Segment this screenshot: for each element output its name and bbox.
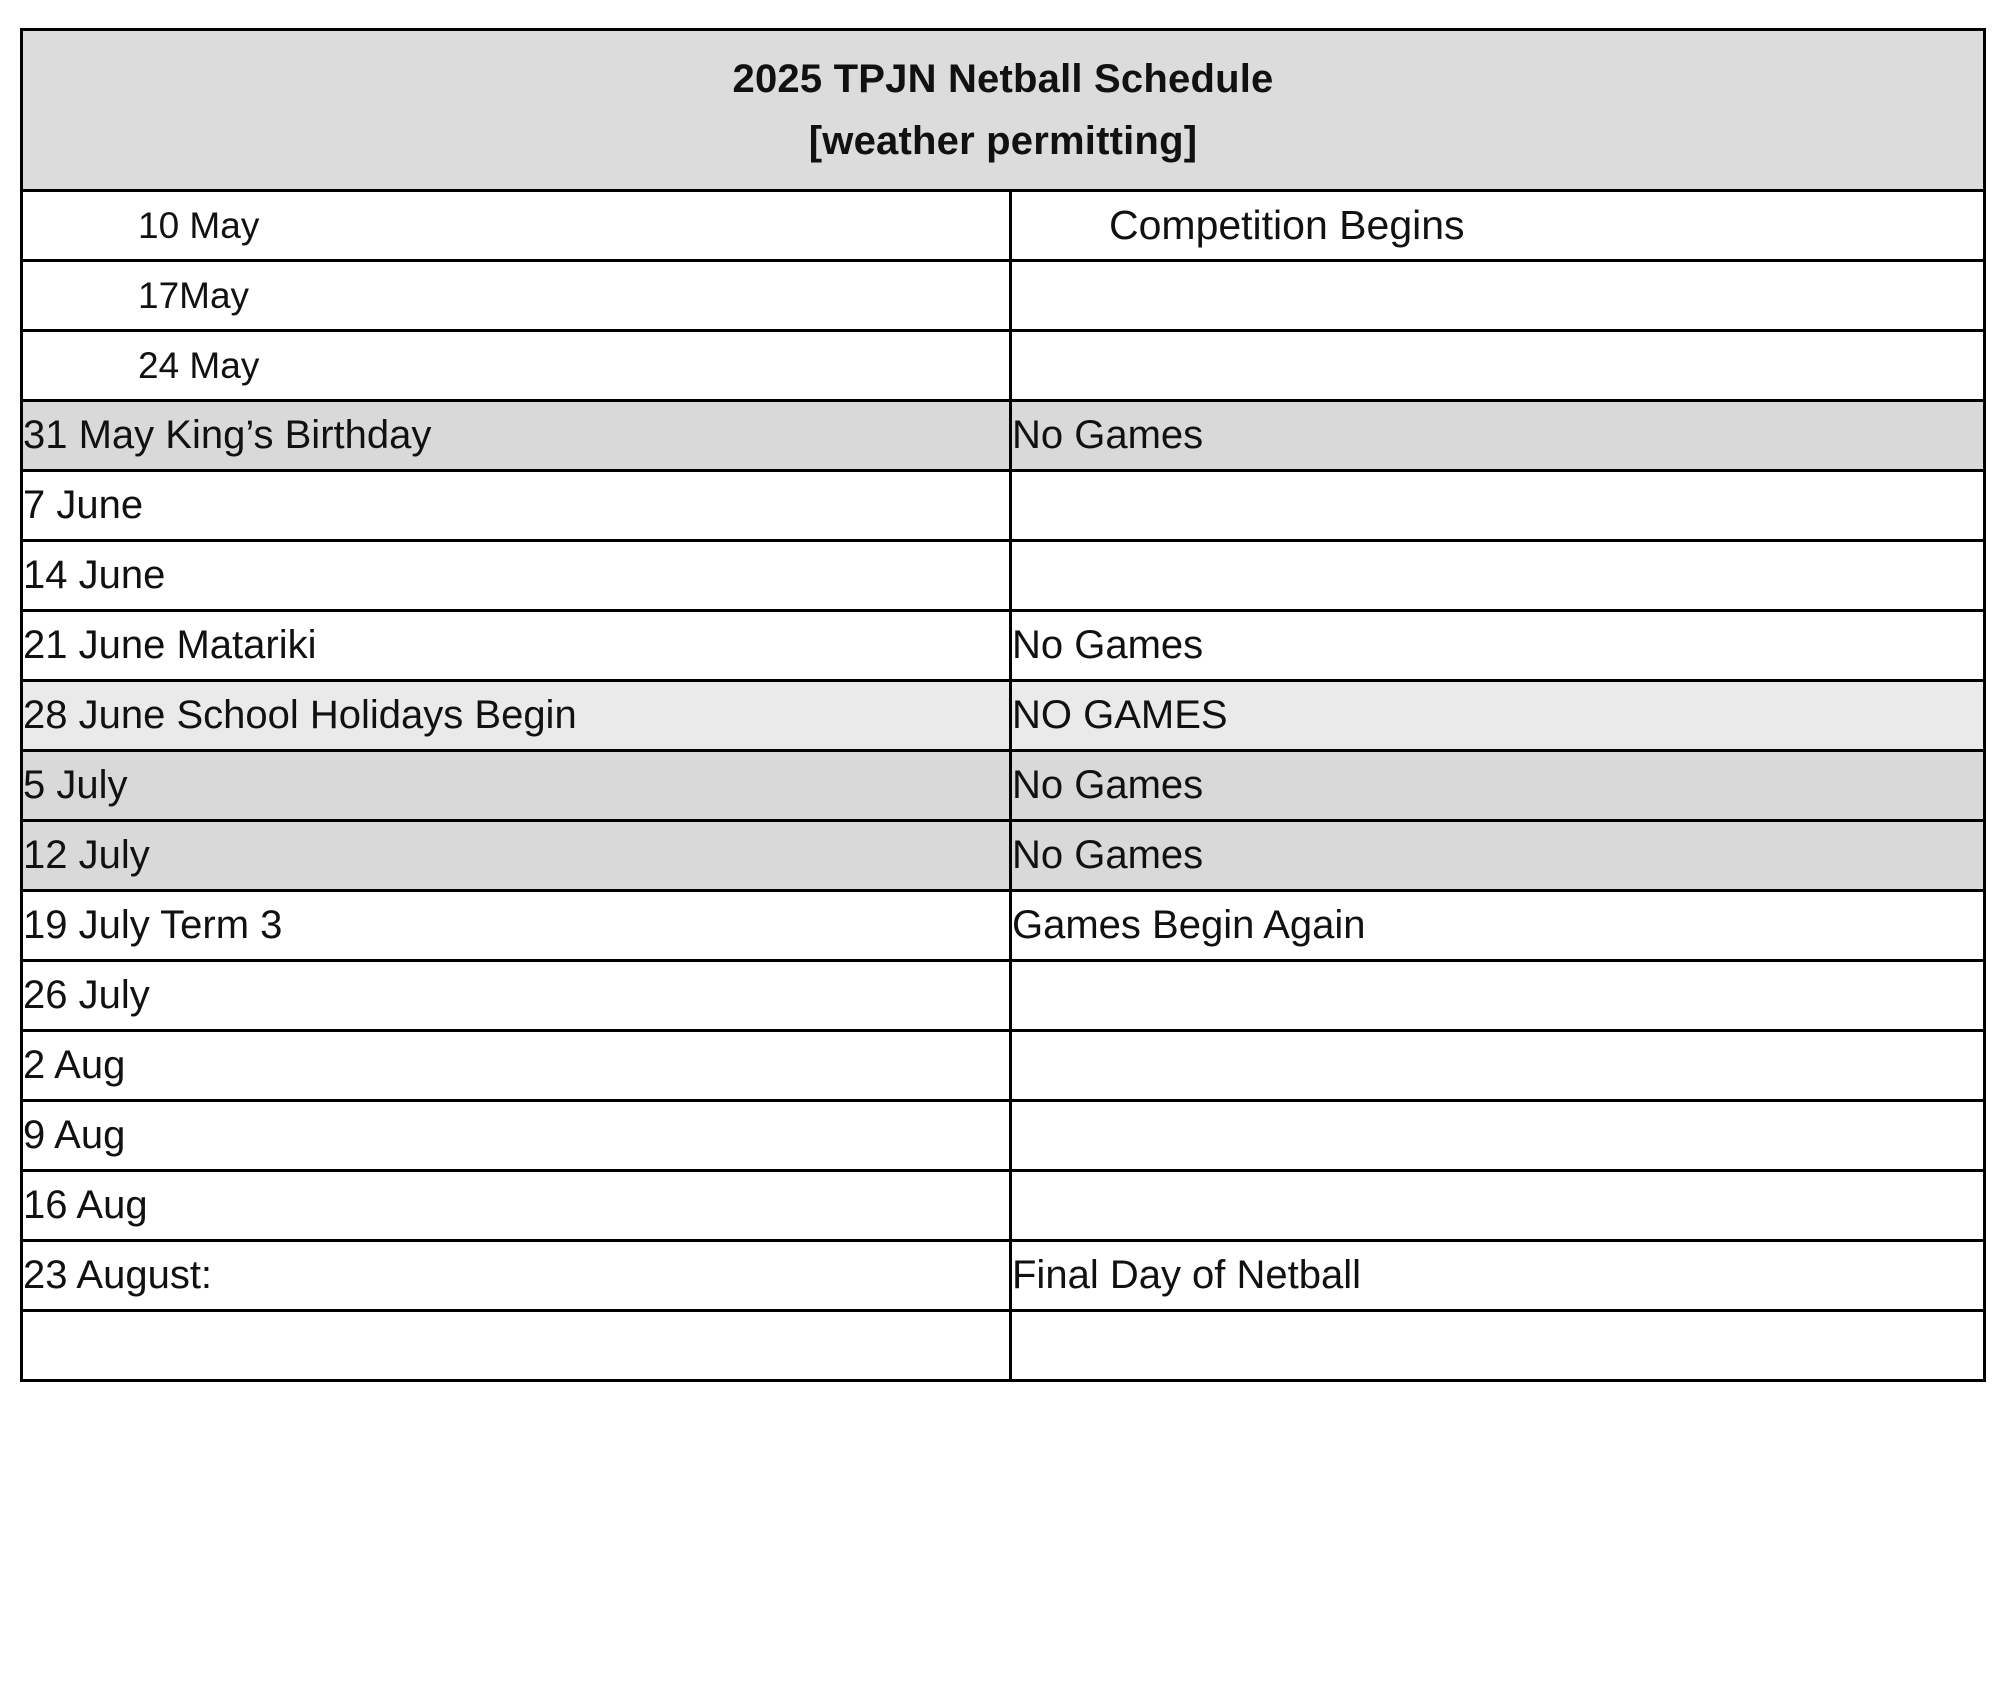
page-canvas: 2025 TPJN Netball Schedule [weather perm…: [0, 0, 2000, 1689]
schedule-date-cell: 23 August:: [22, 1241, 1011, 1311]
schedule-note-cell: [1011, 331, 1985, 401]
table-row: [22, 1311, 1985, 1381]
schedule-date-cell: 28 June School Holidays Begin: [22, 681, 1011, 751]
schedule-date-cell: 9 Aug: [22, 1101, 1011, 1171]
schedule-note-cell: No Games: [1011, 821, 1985, 891]
schedule-date-cell: 26 July: [22, 961, 1011, 1031]
schedule-title-cell: 2025 TPJN Netball Schedule [weather perm…: [22, 30, 1985, 191]
table-row: 16 Aug: [22, 1171, 1985, 1241]
schedule-note-cell: [1011, 1101, 1985, 1171]
table-row: 21 June MatarikiNo Games: [22, 611, 1985, 681]
schedule-note-cell: No Games: [1011, 751, 1985, 821]
schedule-note-cell: NO GAMES: [1011, 681, 1985, 751]
schedule-note-cell: Competition Begins: [1011, 191, 1985, 261]
schedule-date-cell: 5 July: [22, 751, 1011, 821]
table-row: 2 Aug: [22, 1031, 1985, 1101]
table-row: 26 July: [22, 961, 1985, 1031]
schedule-note-cell: [1011, 261, 1985, 331]
table-row: 14 June: [22, 541, 1985, 611]
schedule-note-cell: No Games: [1011, 611, 1985, 681]
schedule-note-cell: Final Day of Netball: [1011, 1241, 1985, 1311]
table-row: 28 June School Holidays BeginNO GAMES: [22, 681, 1985, 751]
schedule-date-cell: [22, 1311, 1011, 1381]
table-row: 10 MayCompetition Begins: [22, 191, 1985, 261]
schedule-date-cell: 14 June: [22, 541, 1011, 611]
table-row: 23 August:Final Day of Netball: [22, 1241, 1985, 1311]
schedule-note-cell: [1011, 471, 1985, 541]
schedule-date-cell: 19 July Term 3: [22, 891, 1011, 961]
schedule-date-cell: 24 May: [22, 331, 1011, 401]
schedule-note-cell: [1011, 1031, 1985, 1101]
table-row: 24 May: [22, 331, 1985, 401]
table-row: 12 JulyNo Games: [22, 821, 1985, 891]
schedule-date-cell: 7 June: [22, 471, 1011, 541]
schedule-header-row: 2025 TPJN Netball Schedule [weather perm…: [22, 30, 1985, 191]
page-title: 2025 TPJN Netball Schedule: [23, 48, 1983, 110]
schedule-date-cell: 2 Aug: [22, 1031, 1011, 1101]
table-row: 7 June: [22, 471, 1985, 541]
table-row: 5 JulyNo Games: [22, 751, 1985, 821]
table-row: 19 July Term 3Games Begin Again: [22, 891, 1985, 961]
table-row: 17May: [22, 261, 1985, 331]
page-subtitle: [weather permitting]: [23, 110, 1983, 172]
schedule-note-cell: [1011, 1171, 1985, 1241]
schedule-date-cell: 31 May King’s Birthday: [22, 401, 1011, 471]
schedule-note-cell: [1011, 961, 1985, 1031]
netball-schedule-table: 2025 TPJN Netball Schedule [weather perm…: [20, 28, 1986, 1382]
schedule-table-body: 2025 TPJN Netball Schedule [weather perm…: [22, 30, 1985, 1381]
schedule-note-cell: Games Begin Again: [1011, 891, 1985, 961]
schedule-note-cell: [1011, 541, 1985, 611]
schedule-date-cell: 21 June Matariki: [22, 611, 1011, 681]
schedule-date-cell: 10 May: [22, 191, 1011, 261]
schedule-date-cell: 12 July: [22, 821, 1011, 891]
schedule-note-cell: [1011, 1311, 1985, 1381]
table-row: 9 Aug: [22, 1101, 1985, 1171]
table-row: 31 May King’s BirthdayNo Games: [22, 401, 1985, 471]
schedule-note-cell: No Games: [1011, 401, 1985, 471]
schedule-date-cell: 17May: [22, 261, 1011, 331]
schedule-date-cell: 16 Aug: [22, 1171, 1011, 1241]
